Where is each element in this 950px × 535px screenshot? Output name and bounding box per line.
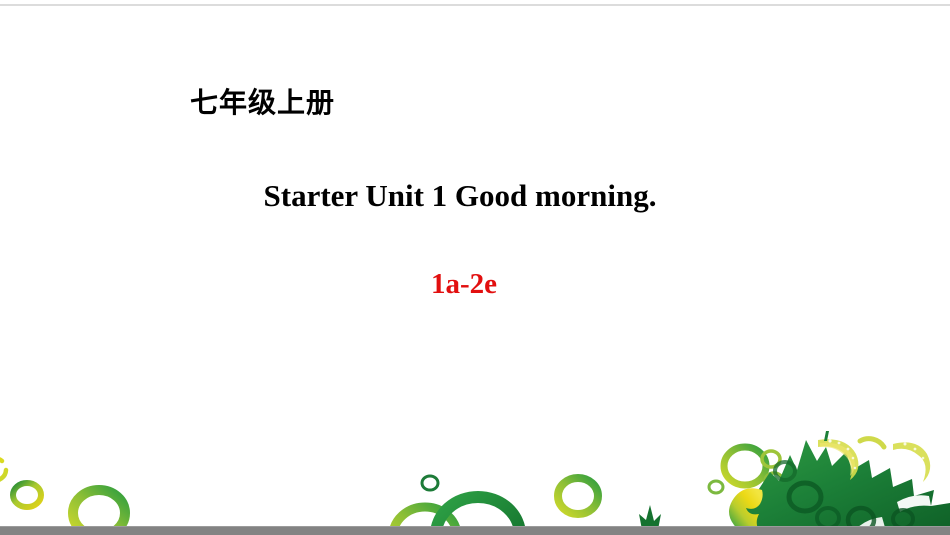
grade-line-text: 七年级上册: [190, 81, 335, 121]
decor-leaf-ring-b: [817, 508, 839, 528]
decor-crescent-left: [818, 439, 858, 480]
decor-bubble-ring-large-upper: [724, 447, 766, 485]
decor-crescent-right: [893, 442, 930, 482]
decor-left-small-ring: [13, 483, 41, 507]
decor-leaf-stem: [824, 431, 829, 441]
bottom-status-bar: [0, 526, 950, 535]
decor-bubble-ring-small-a: [762, 451, 780, 467]
decor-crescent-arc-top: [860, 439, 884, 447]
decor-mid-ring: [558, 478, 598, 514]
decor-speckles: [828, 439, 924, 469]
decor-left-small-arc: [0, 458, 6, 480]
decor-maple-leaf: [739, 440, 950, 535]
slide-canvas: 七年级上册 Starter Unit 1 Good morning. 1a-2e: [0, 0, 950, 535]
section-label: 1a-2e: [0, 268, 928, 301]
decor-bubble-ring-tiny: [709, 481, 723, 493]
page-title: Starter Unit 1 Good morning.: [0, 178, 920, 214]
bottom-status-bar-highlight: [0, 526, 950, 527]
decor-mid-tiny-ring: [422, 476, 438, 490]
decor-bubble-ring-small-b: [765, 473, 783, 489]
decor-leaf-ring-a: [789, 483, 821, 511]
decor-leaf-ring-e: [775, 462, 795, 480]
top-divider-rule: [0, 4, 950, 6]
